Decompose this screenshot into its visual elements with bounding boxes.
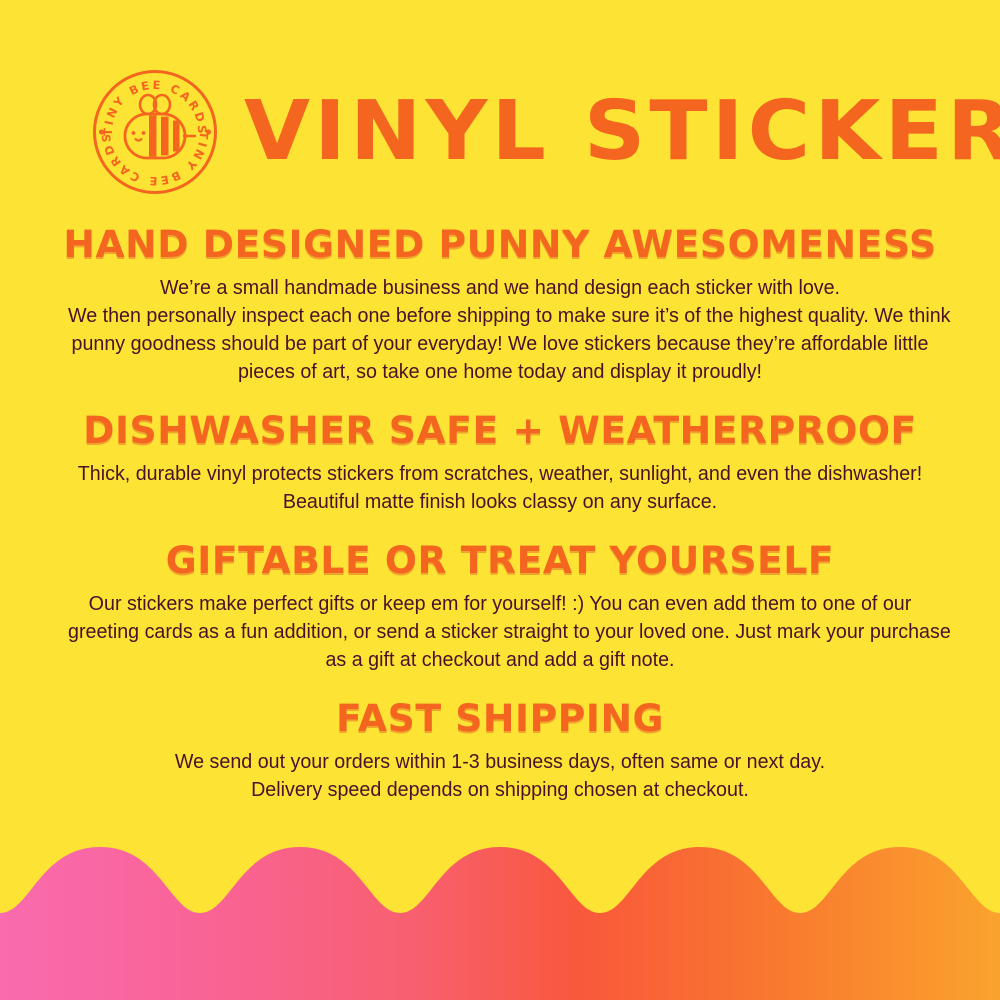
body-line: Beautiful matte finish looks classy on a… [68,488,932,516]
section-body: Thick, durable vinyl protects stickers f… [68,460,932,516]
section-heading: GIFTABLE OR TREAT YOURSELF [0,538,1000,584]
page-title: VINYL STICKERS [244,91,1000,173]
section-body: Our stickers make perfect gifts or keep … [68,590,932,674]
poster-header: TINY BEE CARDS TINY BEE CARDS [0,62,1000,202]
section-heading: FAST SHIPPING [0,696,1000,742]
section-heading: HAND DESIGNED PUNNY AWESOMENESS [0,222,1000,268]
body-line: greeting cards as a fun addition, or sen… [68,618,932,646]
section-body: We send out your orders within 1-3 busin… [68,748,932,804]
poster-canvas: TINY BEE CARDS TINY BEE CARDS [0,0,1000,1000]
section-fast-shipping: FAST SHIPPING We send out your orders wi… [0,696,1000,804]
section-hand-designed: HAND DESIGNED PUNNY AWESOMENESS We’re a … [0,222,1000,386]
body-line: We then personally inspect each one befo… [68,302,932,330]
body-line: punny goodness should be part of your ev… [68,330,932,358]
content-sections: HAND DESIGNED PUNNY AWESOMENESS We’re a … [0,222,1000,804]
body-line: Thick, durable vinyl protects stickers f… [68,460,932,488]
body-line: We send out your orders within 1-3 busin… [68,748,932,776]
section-heading: DISHWASHER SAFE + WEATHERPROOF [0,408,1000,454]
body-line: Delivery speed depends on shipping chose… [68,776,932,804]
body-line: pieces of art, so take one home today an… [68,358,932,386]
section-dishwasher-safe: DISHWASHER SAFE + WEATHERPROOF Thick, du… [0,408,1000,516]
wave-footer-decoration [0,835,1000,1000]
section-body: We’re a small handmade business and we h… [68,274,932,386]
brand-logo: TINY BEE CARDS TINY BEE CARDS [92,69,218,195]
section-giftable: GIFTABLE OR TREAT YOURSELF Our stickers … [0,538,1000,674]
body-line: Our stickers make perfect gifts or keep … [68,590,932,618]
body-line: We’re a small handmade business and we h… [68,274,932,302]
body-line: as a gift at checkout and add a gift not… [68,646,932,674]
